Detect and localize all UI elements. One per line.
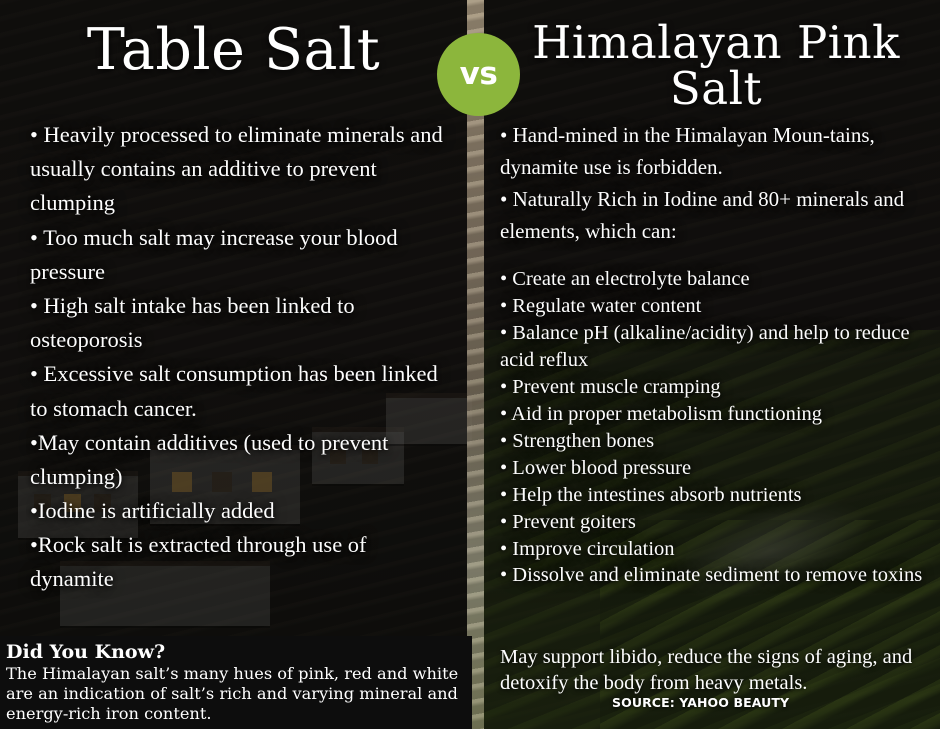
list-item: • Help the intestines absorb nutrients: [500, 482, 936, 509]
page-title-himalayan-pink-salt: Himalayan Pink Salt: [498, 20, 934, 112]
list-item: • High salt intake has been linked to os…: [30, 289, 443, 357]
table-salt-bullet-list: • Heavily processed to eliminate mineral…: [30, 118, 443, 597]
source-attribution: SOURCE: YAHOO BEAUTY: [612, 695, 789, 710]
list-item: •Iodine is artificially added: [30, 494, 443, 528]
himalayan-intro-bullet-list: • Hand-mined in the Himalayan Moun-tains…: [500, 120, 936, 248]
page-title-line-2: Salt: [498, 66, 934, 112]
list-item: • Excessive salt consumption has been li…: [30, 357, 443, 425]
list-item: • Regulate water content: [500, 293, 936, 320]
page-title-table-salt: Table Salt: [0, 21, 467, 79]
list-item: • Aid in proper metabolism functioning: [500, 401, 936, 428]
list-item: • Prevent goiters: [500, 509, 936, 536]
list-item: •May contain additives (used to prevent …: [30, 426, 443, 494]
list-item: • Balance pH (alkaline/acidity) and help…: [500, 320, 936, 374]
versus-badge-label: vs: [460, 59, 498, 90]
list-item: •Rock salt is extracted through use of d…: [30, 528, 443, 596]
page-title-line-1: Himalayan Pink: [498, 20, 934, 66]
himalayan-benefits-bullet-list: • Create an electrolyte balance • Regula…: [500, 266, 936, 589]
list-item: • Too much salt may increase your blood …: [30, 221, 443, 289]
infographic-canvas: Table Salt • Heavily processed to elimin…: [0, 0, 940, 729]
list-item: • Improve circulation: [500, 536, 936, 563]
list-item: • Create an electrolyte balance: [500, 266, 936, 293]
closing-statement-text: May support libido, reduce the signs of …: [500, 645, 930, 697]
did-you-know-body: The Himalayan salt’s many hues of pink, …: [6, 664, 464, 724]
list-item: • Naturally Rich in Iodine and 80+ miner…: [500, 184, 936, 248]
did-you-know-title: Did You Know?: [6, 642, 464, 663]
list-item: • Hand-mined in the Himalayan Moun-tains…: [500, 120, 936, 184]
list-item: • Strengthen bones: [500, 428, 936, 455]
list-item: • Prevent muscle cramping: [500, 374, 936, 401]
did-you-know-panel: Did You Know? The Himalayan salt’s many …: [0, 636, 472, 729]
versus-badge: vs: [437, 33, 520, 116]
list-item: • Lower blood pressure: [500, 455, 936, 482]
list-item: • Dissolve and eliminate sediment to rem…: [500, 562, 936, 589]
list-item: • Heavily processed to eliminate mineral…: [30, 118, 443, 221]
closing-statement: May support libido, reduce the signs of …: [500, 645, 930, 697]
left-column: Table Salt • Heavily processed to elimin…: [0, 0, 467, 729]
right-column: Himalayan Pink Salt • Hand-mined in the …: [484, 0, 940, 729]
